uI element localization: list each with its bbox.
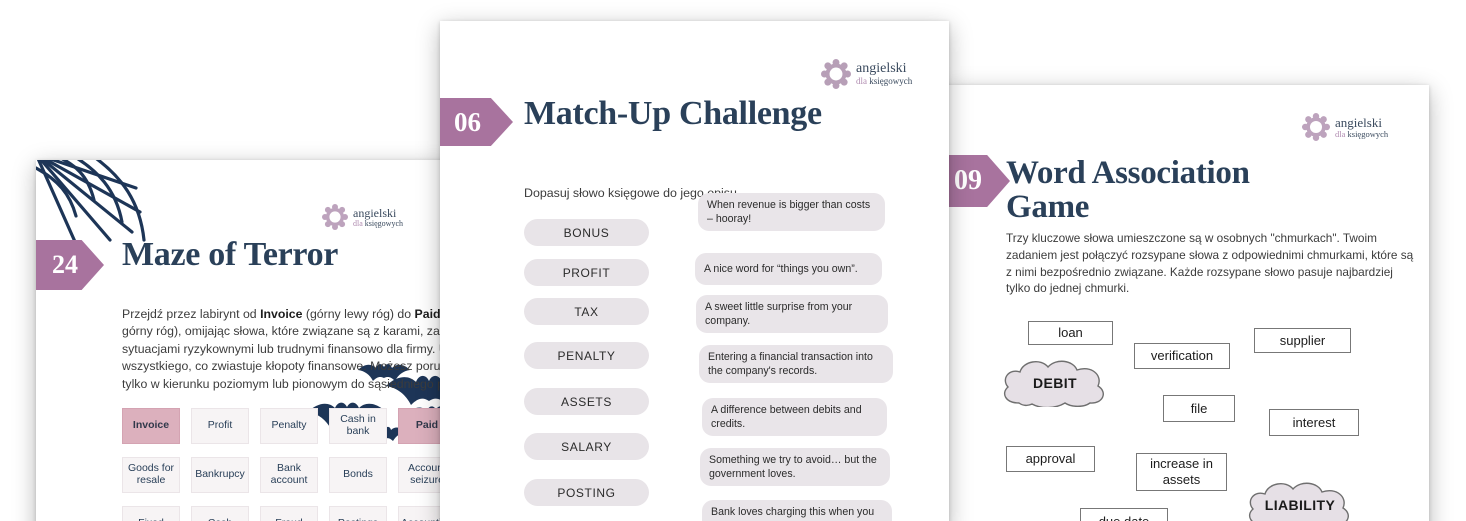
maze-cell[interactable]: Bankrupcy: [191, 457, 249, 493]
document-match-up-challenge[interactable]: angielski dla księgowych 06 Match-Up Cha…: [440, 21, 949, 521]
term-pill[interactable]: PENALTY: [524, 342, 649, 369]
word-box-file[interactable]: file: [1163, 395, 1235, 422]
section-number-badge: 06: [440, 98, 513, 146]
angielski-flower-ring-logo-icon: [821, 59, 851, 89]
maze-cell[interactable]: Invoice: [122, 408, 180, 444]
word-box-due-date[interactable]: due date: [1080, 508, 1168, 521]
maze-cell[interactable]: Goods for resale: [122, 457, 180, 493]
angielski-flower-ring-logo-icon: [322, 204, 348, 230]
document-maze-of-terror[interactable]: angielski dla księgowych 24 Maze of Terr…: [36, 160, 466, 521]
maze-cell[interactable]: Fraud: [260, 506, 318, 521]
logo-name-line2: dla księgowych: [856, 77, 912, 86]
maze-cell[interactable]: Postings: [329, 506, 387, 521]
word-box-approval[interactable]: approval: [1006, 446, 1095, 472]
page-intro: Przejdź przez labirynt od Invoice (górny…: [122, 306, 466, 393]
brand-logo: angielski dla księgowych: [1302, 113, 1388, 141]
maze-cell[interactable]: Bonds: [329, 457, 387, 493]
word-box-supplier[interactable]: supplier: [1254, 328, 1351, 353]
term-pill[interactable]: TAX: [524, 298, 649, 325]
angielski-flower-ring-logo-icon: [1302, 113, 1330, 141]
brand-logo: angielski dla księgowych: [322, 204, 403, 230]
word-box-interest[interactable]: interest: [1269, 409, 1359, 436]
cloud-label: LIABILITY: [1244, 497, 1356, 513]
definition-bubble[interactable]: A nice word for “things you own”.: [695, 253, 882, 285]
cloud-label: DEBIT: [999, 375, 1111, 391]
logo-name-line1: angielski: [353, 207, 403, 219]
definition-bubble[interactable]: When revenue is bigger than costs – hoor…: [698, 193, 885, 231]
document-word-association-game[interactable]: angielski dla księgowych 09 Word Associa…: [944, 85, 1429, 521]
logo-name-line1: angielski: [856, 62, 912, 76]
cloud-debit[interactable]: DEBIT: [999, 359, 1111, 407]
page-title: Match-Up Challenge: [524, 97, 822, 132]
screenshot-canvas: angielski dla księgowych 24 Maze of Terr…: [0, 0, 1466, 521]
logo-name-line2: dla księgowych: [353, 220, 403, 228]
page-intro: Trzy kluczowe słowa umieszczone są w oso…: [1006, 230, 1416, 297]
maze-cell[interactable]: Fixed: [122, 506, 180, 521]
section-number-badge: 09: [944, 155, 1010, 207]
definition-bubble[interactable]: A sweet little surprise from your compan…: [696, 295, 888, 333]
maze-cell[interactable]: Cash: [191, 506, 249, 521]
definition-bubble[interactable]: Something we try to avoid… but the gover…: [700, 448, 890, 486]
maze-cell[interactable]: Cash in bank: [329, 408, 387, 444]
word-box-increase-in-assets[interactable]: increase in assets: [1136, 453, 1227, 491]
logo-name-line2: dla księgowych: [1335, 130, 1388, 139]
term-pill[interactable]: BONUS: [524, 219, 649, 246]
page-title: Word Association Game: [1006, 157, 1306, 224]
cloud-liability[interactable]: LIABILITY: [1244, 481, 1356, 521]
page-title: Maze of Terror: [122, 238, 338, 273]
brand-logo: angielski dla księgowych: [821, 59, 912, 89]
maze-cell[interactable]: Penalty: [260, 408, 318, 444]
spider-web-icon: [36, 160, 156, 246]
maze-cell[interactable]: Profit: [191, 408, 249, 444]
definition-bubble[interactable]: Entering a financial transaction into th…: [699, 345, 893, 383]
term-pill[interactable]: POSTING: [524, 479, 649, 506]
word-box-verification[interactable]: verification: [1134, 343, 1230, 369]
maze-cell[interactable]: Bank account: [260, 457, 318, 493]
term-pill[interactable]: ASSETS: [524, 388, 649, 415]
term-pill[interactable]: SALARY: [524, 433, 649, 460]
logo-name-line1: angielski: [1335, 116, 1388, 129]
definition-bubble[interactable]: Bank loves charging this when you borrow…: [702, 500, 892, 521]
term-pill[interactable]: PROFIT: [524, 259, 649, 286]
section-number-badge: 24: [36, 240, 104, 290]
definition-bubble[interactable]: A difference between debits and credits.: [702, 398, 887, 436]
word-box-loan[interactable]: loan: [1028, 321, 1113, 345]
